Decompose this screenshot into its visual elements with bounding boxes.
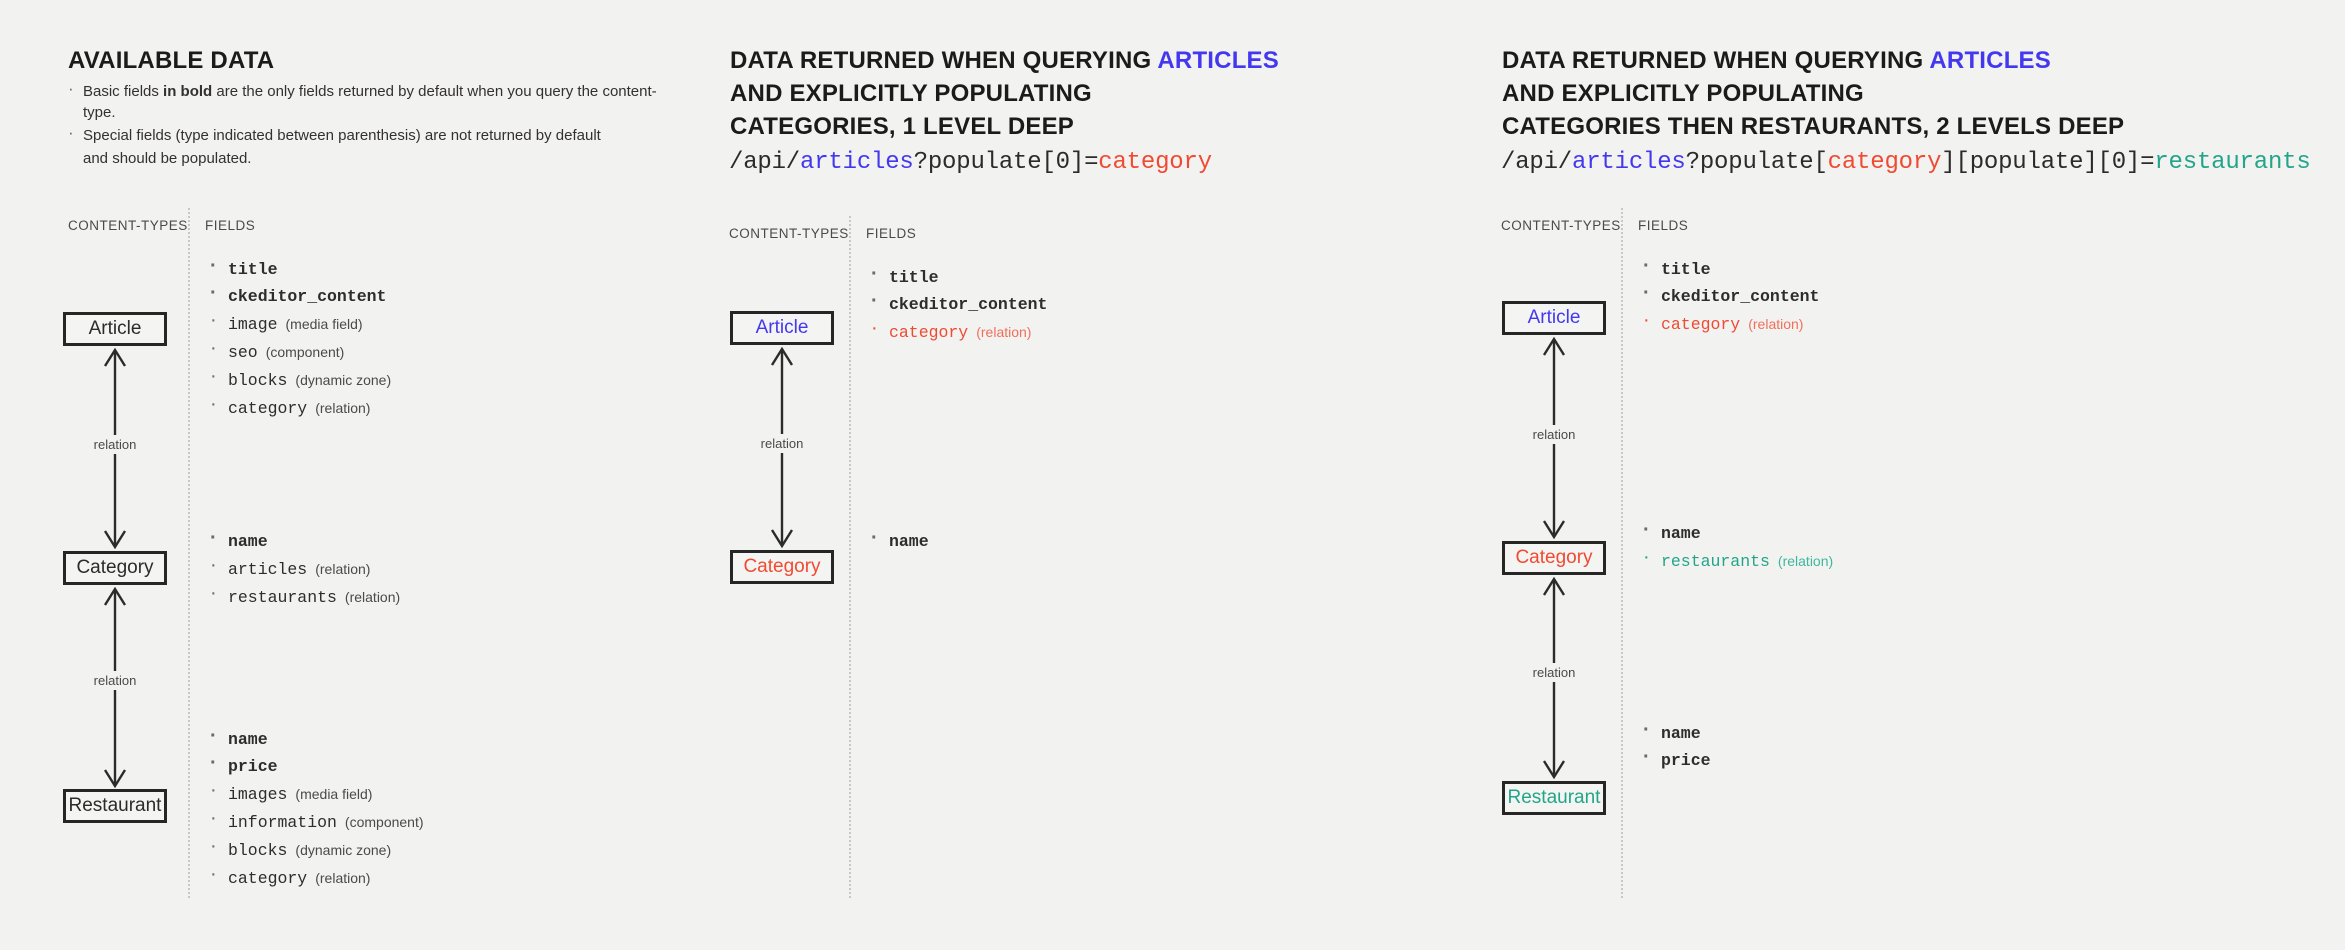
content-type-box-article[interactable]: Article [730, 311, 834, 345]
column-1-heading: AVAILABLE DATA [68, 44, 274, 77]
endpoint-part: /api/ [729, 149, 800, 176]
column-2-heading-line-2: AND EXPLICITLY POPULATING [730, 77, 1279, 110]
field-item: title [1641, 258, 1819, 282]
column-1-label-fields: FIELDS [205, 218, 255, 233]
column-1-notes: Basic fields in bold are the only fields… [66, 81, 666, 171]
endpoint-part: ?populate[ [1686, 149, 1828, 176]
fields-category: name articles(relation) restaurants(rela… [208, 530, 400, 613]
field-item: blocks(dynamic zone) [208, 838, 424, 863]
content-type-box-article[interactable]: Article [63, 312, 167, 346]
column-populate-2-levels: DATA RETURNED WHEN QUERYING ARTICLES AND… [1480, 0, 2345, 950]
content-type-box-label: Category [743, 556, 820, 578]
relation-label: relation [1529, 663, 1580, 682]
field-name: name [1661, 724, 1701, 743]
field-item: title [208, 258, 391, 282]
endpoint-part: ][populate][0]= [1941, 149, 2154, 176]
heading-text: DATA RETURNED WHEN QUERYING [1502, 47, 1929, 74]
field-name: title [228, 260, 278, 279]
field-name: seo [228, 343, 258, 362]
relation-label: relation [1529, 425, 1580, 444]
field-name: image [228, 315, 278, 334]
heading-text: DATA RETURNED WHEN QUERYING [730, 47, 1157, 74]
endpoint-part-category: category [1098, 149, 1212, 176]
note-pre: Basic fields [83, 83, 163, 100]
column-2-label-content-types: CONTENT-TYPES [729, 226, 849, 241]
field-item: image(media field) [208, 312, 391, 337]
content-type-box-category[interactable]: Category [1502, 541, 1606, 575]
heading-accent: ARTICLES [1157, 47, 1279, 74]
field-type: (relation) [315, 870, 370, 886]
content-type-box-label: Article [1528, 307, 1581, 329]
fields-article: title ckeditor_content image(media field… [208, 258, 391, 424]
field-name: category [228, 399, 307, 418]
field-item: images(media field) [208, 782, 424, 807]
field-item: restaurants(relation) [208, 585, 400, 610]
diagram-page: AVAILABLE DATA Basic fields in bold are … [0, 0, 2345, 950]
field-name: price [228, 757, 278, 776]
column-3-heading: DATA RETURNED WHEN QUERYING ARTICLES AND… [1502, 44, 2124, 143]
field-item: name [1641, 522, 1833, 546]
note-pre: Special fields (type indicated between p… [83, 127, 601, 144]
fields-restaurant: name price images(media field) informati… [208, 728, 424, 894]
field-name: images [228, 785, 287, 804]
field-name: ckeditor_content [228, 287, 386, 306]
column-3-heading-line-3: CATEGORIES THEN RESTAURANTS, 2 LEVELS DE… [1502, 110, 2124, 143]
column-2-endpoint: /api/articles?populate[0]=category [729, 148, 1212, 178]
field-item: restaurants(relation) [1641, 549, 1833, 574]
relation-label: relation [757, 434, 808, 453]
content-type-box-label: Category [76, 557, 153, 579]
field-name: restaurants [1661, 552, 1770, 571]
content-type-box-label: Article [89, 318, 142, 340]
field-name: name [889, 532, 929, 551]
content-type-box-restaurant[interactable]: Restaurant [1502, 781, 1606, 815]
field-name: price [1661, 751, 1711, 770]
fields-category: name restaurants(relation) [1641, 522, 1833, 577]
column-3-label-fields: FIELDS [1638, 218, 1688, 233]
field-name: category [1661, 315, 1740, 334]
column-3-heading-line-2: AND EXPLICITLY POPULATING [1502, 77, 2124, 110]
relation-label: relation [90, 671, 141, 690]
endpoint-part: /api/ [1501, 149, 1572, 176]
field-item: price [1641, 749, 1711, 773]
field-name: category [228, 869, 307, 888]
column-1-divider [188, 208, 190, 898]
field-type: (dynamic zone) [295, 372, 391, 388]
field-item: name [869, 530, 929, 554]
column-populate-1-level: DATA RETURNED WHEN QUERYING ARTICLES AND… [720, 0, 1480, 950]
field-item: ckeditor_content [1641, 285, 1819, 309]
field-item: articles(relation) [208, 557, 400, 582]
field-item: category(relation) [208, 866, 424, 891]
field-item: category(relation) [869, 320, 1047, 345]
endpoint-part-restaurants: restaurants [2154, 149, 2310, 176]
content-type-box-label: Category [1515, 547, 1592, 569]
content-type-box-article[interactable]: Article [1502, 301, 1606, 335]
field-item: name [208, 530, 400, 554]
field-name: ckeditor_content [889, 295, 1047, 314]
field-name: restaurants [228, 588, 337, 607]
note-continuation: and should be populated. [83, 150, 251, 167]
field-type: (dynamic zone) [295, 842, 391, 858]
column-3-endpoint: /api/articles?populate[category][populat… [1501, 148, 2311, 178]
field-type: (component) [345, 814, 424, 830]
note-item: Basic fields in bold are the only fields… [66, 81, 666, 123]
field-name: category [889, 323, 968, 342]
field-type: (relation) [976, 324, 1031, 340]
column-3-divider [1621, 208, 1623, 898]
content-type-box-label: Restaurant [69, 795, 162, 817]
field-name: title [1661, 260, 1711, 279]
column-1-label-content-types: CONTENT-TYPES [68, 218, 188, 233]
field-name: name [228, 730, 268, 749]
column-available-data: AVAILABLE DATA Basic fields in bold are … [0, 0, 720, 950]
field-type: (relation) [315, 561, 370, 577]
field-item: ckeditor_content [869, 293, 1047, 317]
fields-category: name [869, 530, 929, 557]
column-2-label-fields: FIELDS [866, 226, 916, 241]
field-type: (relation) [1748, 316, 1803, 332]
fields-article: title ckeditor_content category(relation… [869, 266, 1047, 348]
note-bold: in bold [163, 83, 212, 100]
fields-article: title ckeditor_content category(relation… [1641, 258, 1819, 340]
column-2-heading: DATA RETURNED WHEN QUERYING ARTICLES AND… [730, 44, 1279, 143]
fields-restaurant: name price [1641, 722, 1711, 776]
field-item: name [208, 728, 424, 752]
field-type: (relation) [315, 400, 370, 416]
field-type: (media field) [286, 316, 363, 332]
relation-label: relation [90, 435, 141, 454]
endpoint-part-resource: articles [800, 149, 914, 176]
field-type: (relation) [345, 589, 400, 605]
field-item: name [1641, 722, 1711, 746]
content-type-box-label: Article [756, 317, 809, 339]
field-item: information(component) [208, 810, 424, 835]
endpoint-part-resource: articles [1572, 149, 1686, 176]
field-item: category(relation) [208, 396, 391, 421]
content-type-box-restaurant[interactable]: Restaurant [63, 789, 167, 823]
endpoint-part-category: category [1828, 149, 1942, 176]
column-2-heading-line-3: CATEGORIES, 1 LEVEL DEEP [730, 110, 1279, 143]
field-item: seo(component) [208, 340, 391, 365]
field-name: name [1661, 524, 1701, 543]
column-2-heading-line-1: DATA RETURNED WHEN QUERYING ARTICLES [730, 44, 1279, 77]
field-name: blocks [228, 841, 287, 860]
field-item: price [208, 755, 424, 779]
field-item: ckeditor_content [208, 285, 391, 309]
note-item: Special fields (type indicated between p… [66, 125, 666, 169]
field-item: category(relation) [1641, 312, 1819, 337]
field-name: name [228, 532, 268, 551]
field-item: title [869, 266, 1047, 290]
field-name: information [228, 813, 337, 832]
field-name: blocks [228, 371, 287, 390]
field-name: ckeditor_content [1661, 287, 1819, 306]
field-item: blocks(dynamic zone) [208, 368, 391, 393]
content-type-box-category[interactable]: Category [63, 551, 167, 585]
field-name: title [889, 268, 939, 287]
column-1-heading-text: AVAILABLE DATA [68, 47, 274, 74]
field-type: (relation) [1778, 553, 1833, 569]
field-type: (component) [266, 344, 345, 360]
heading-accent: ARTICLES [1929, 47, 2051, 74]
content-type-box-category[interactable]: Category [730, 550, 834, 584]
endpoint-part: ?populate[0]= [914, 149, 1099, 176]
column-3-label-content-types: CONTENT-TYPES [1501, 218, 1621, 233]
content-type-box-label: Restaurant [1508, 787, 1601, 809]
field-type: (media field) [295, 786, 372, 802]
column-2-divider [849, 216, 851, 898]
field-name: articles [228, 560, 307, 579]
column-3-heading-line-1: DATA RETURNED WHEN QUERYING ARTICLES [1502, 44, 2124, 77]
